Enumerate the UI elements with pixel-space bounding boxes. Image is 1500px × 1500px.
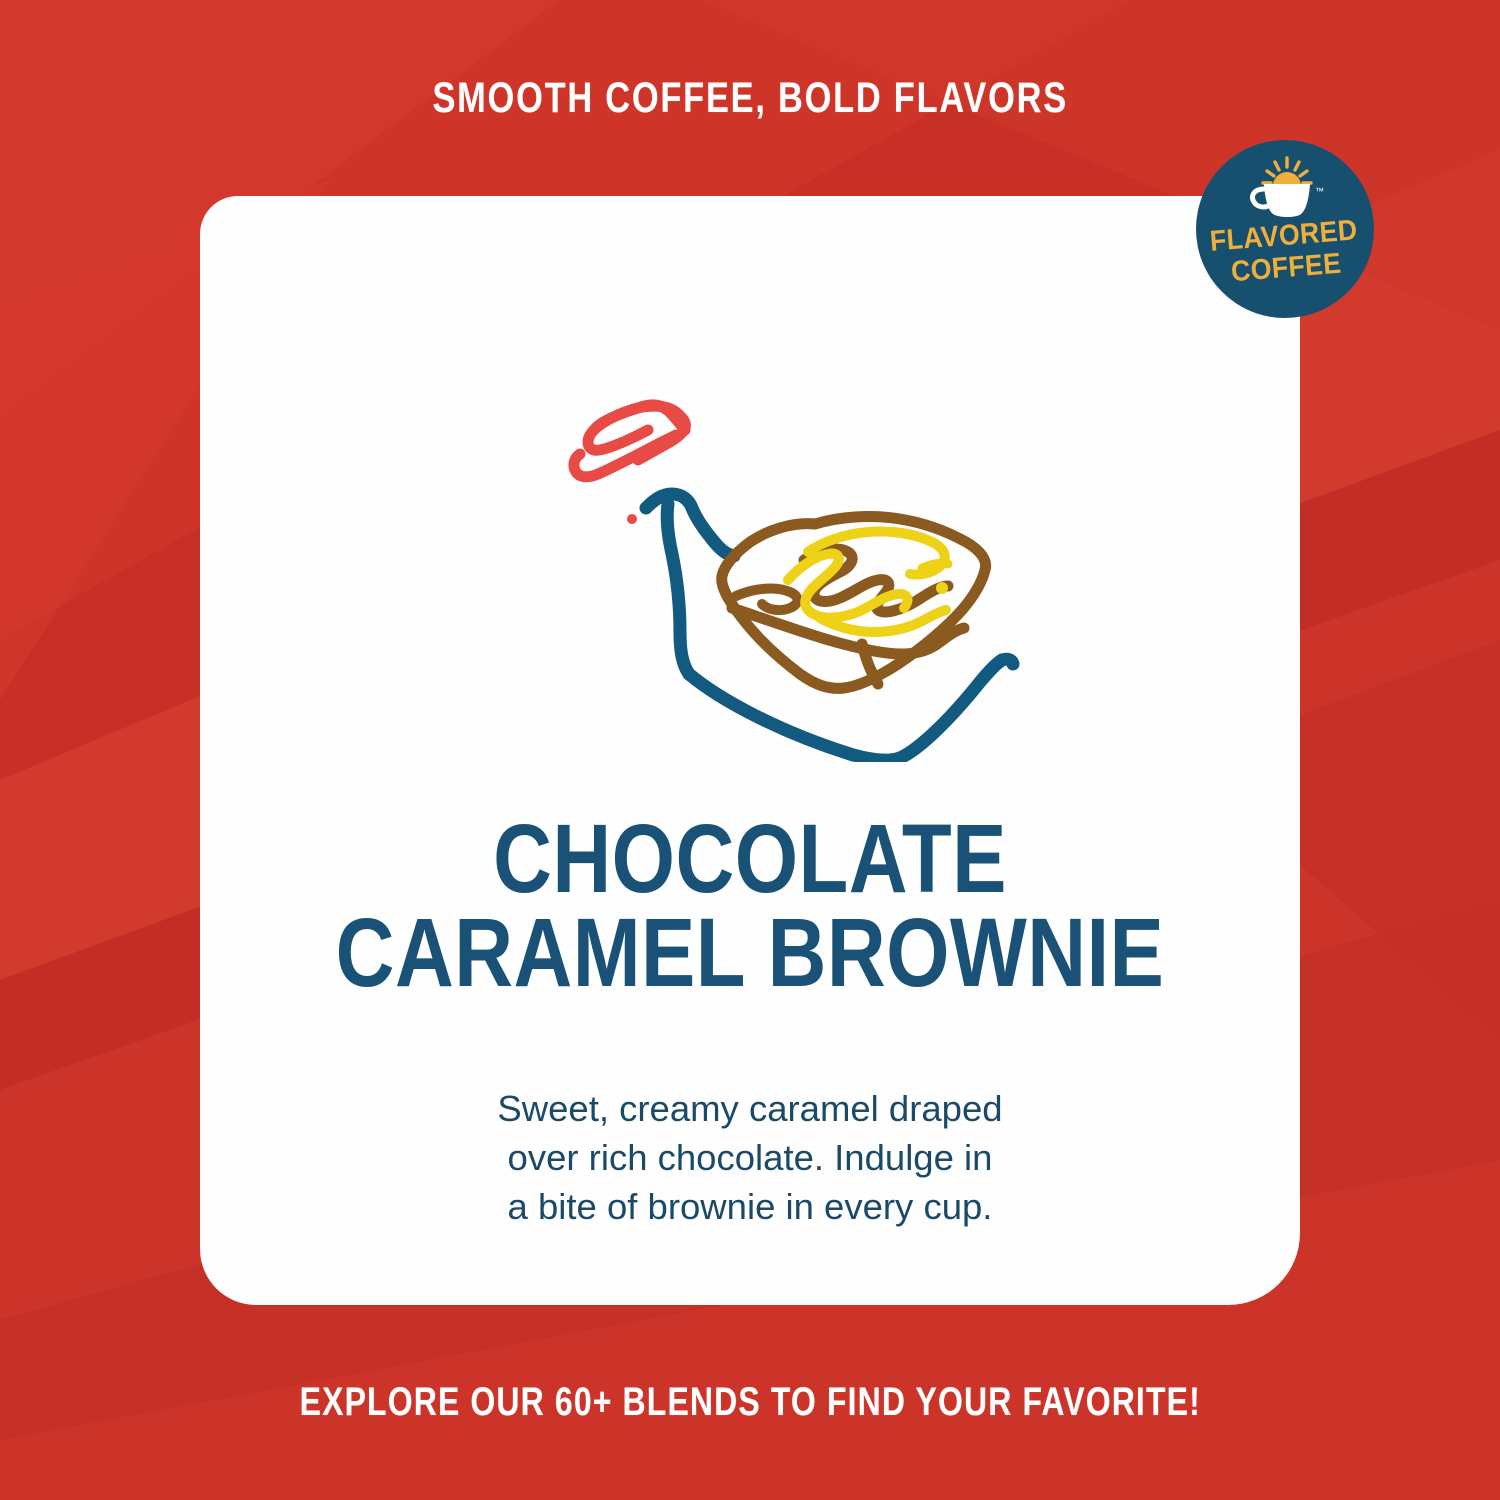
product-card: CHOCOLATE CARAMEL BROWNIE Sweet, creamy … — [200, 196, 1300, 1305]
bottom-banner-text: EXPLORE OUR 60+ BLENDS TO FIND YOUR FAVO… — [299, 1380, 1200, 1425]
flavored-coffee-badge: ™ FLAVORED COFFEE — [1196, 140, 1374, 318]
badge-text: FLAVORED COFFEE — [1196, 215, 1374, 290]
product-description-line-3: a bite of brownie in every cup. — [430, 1183, 1070, 1232]
coffee-cup-sunrise-icon: ™ — [1243, 156, 1327, 220]
product-title-line-2: CARAMEL BROWNIE — [288, 906, 1212, 1000]
product-title-line-1: CHOCOLATE — [288, 812, 1212, 906]
top-banner-text: SMOOTH COFFEE, BOLD FLAVORS — [432, 74, 1068, 123]
spatula-with-brownie-illustration — [470, 382, 1030, 762]
svg-text:™: ™ — [1315, 186, 1324, 196]
product-description-line-1: Sweet, creamy caramel draped — [430, 1085, 1070, 1134]
product-description: Sweet, creamy caramel draped over rich c… — [430, 1085, 1070, 1232]
product-title: CHOCOLATE CARAMEL BROWNIE — [200, 812, 1300, 1000]
product-description-line-2: over rich chocolate. Indulge in — [430, 1134, 1070, 1183]
bottom-banner: EXPLORE OUR 60+ BLENDS TO FIND YOUR FAVO… — [0, 1305, 1500, 1500]
